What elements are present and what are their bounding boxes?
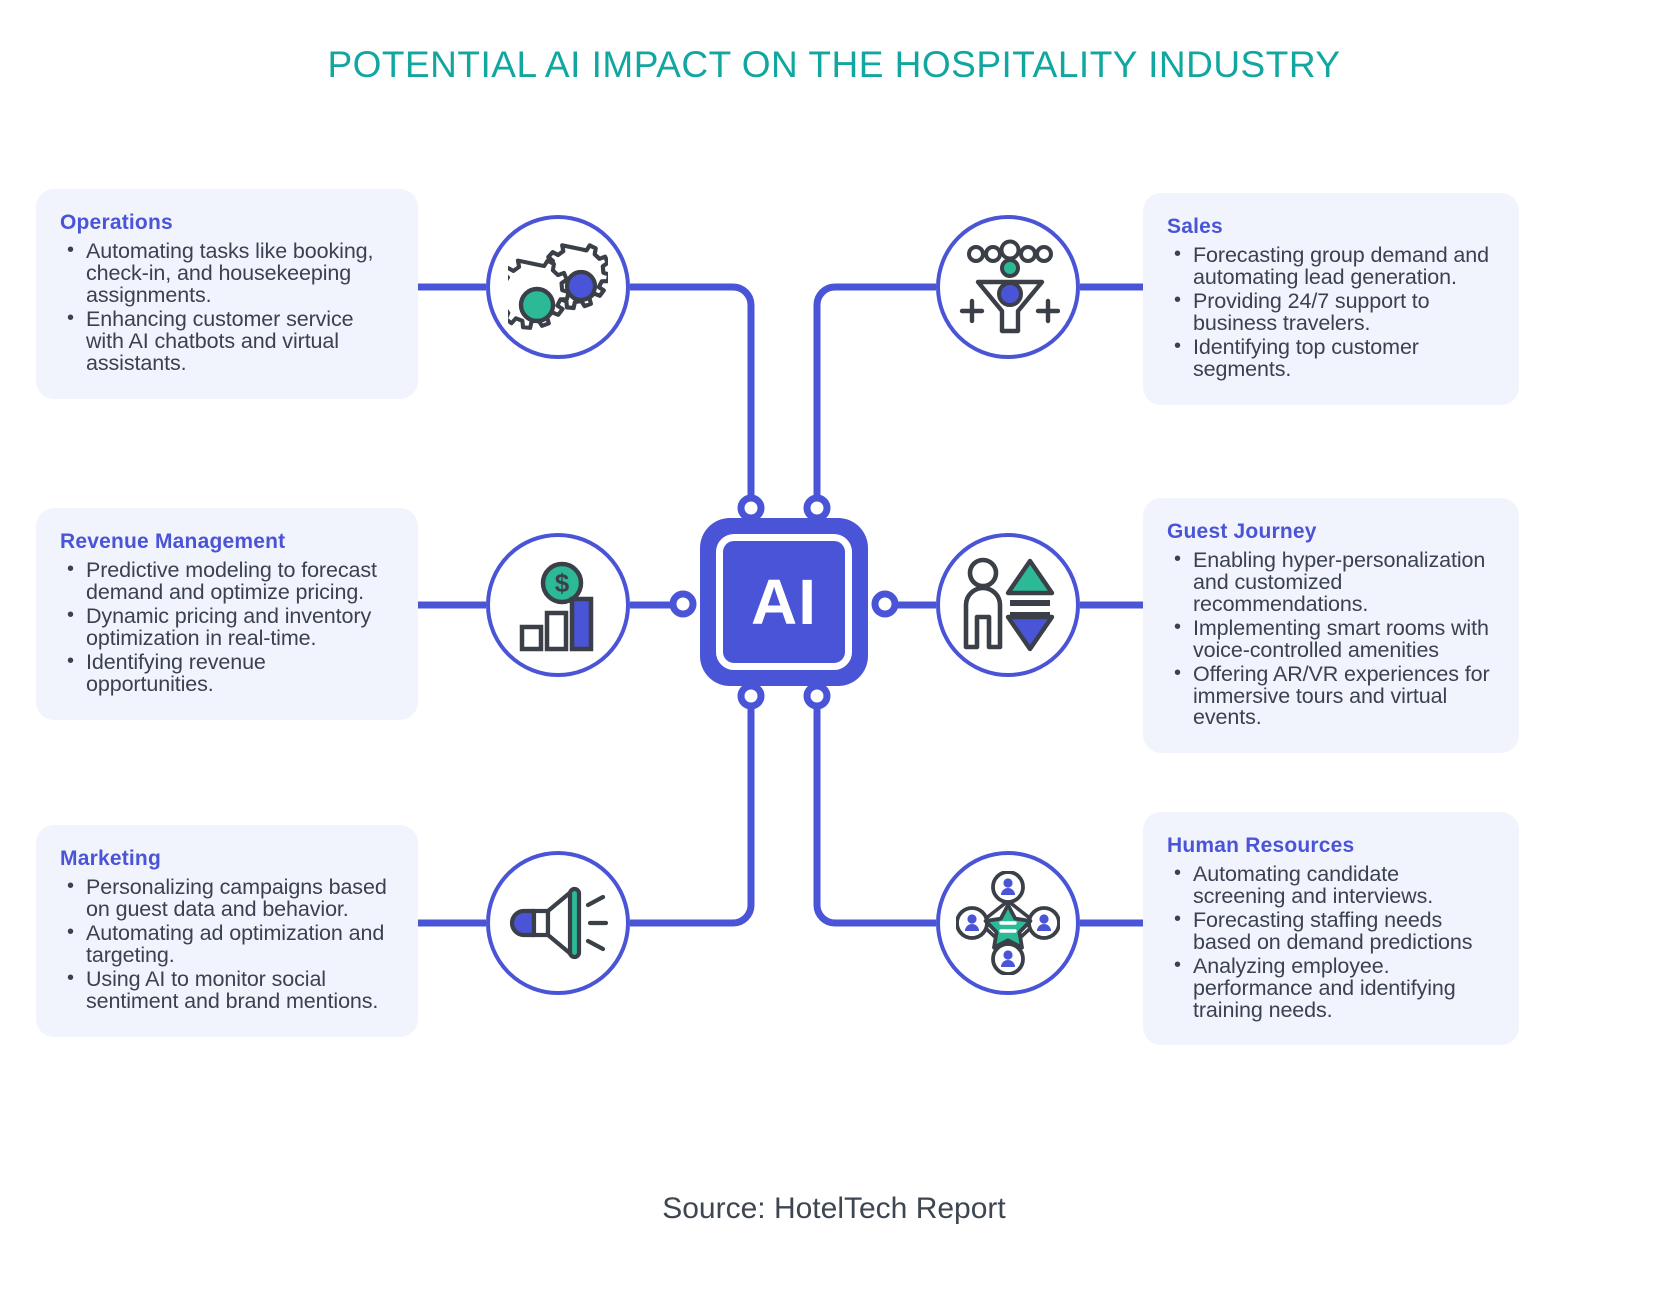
bar-chart-dollar-icon: $ bbox=[510, 557, 606, 653]
card-human-resources[interactable]: Human Resources Automating candidate scr… bbox=[1143, 812, 1519, 1045]
people-network-star-icon bbox=[956, 871, 1060, 975]
card-operations[interactable]: Operations Automating tasks like booking… bbox=[36, 189, 418, 399]
list-item: Personalizing campaigns based on guest d… bbox=[86, 877, 396, 921]
list-item: Automating candidate screening and inter… bbox=[1193, 864, 1497, 908]
guest-person-arrows-icon bbox=[956, 555, 1060, 655]
sales-funnel-icon bbox=[956, 237, 1060, 337]
icon-node-revenue-management[interactable]: $ bbox=[486, 533, 630, 677]
card-marketing[interactable]: Marketing Personalizing campaigns based … bbox=[36, 825, 418, 1037]
list-item: Predictive modeling to forecast demand a… bbox=[86, 560, 396, 604]
list-item: Using AI to monitor social sentiment and… bbox=[86, 969, 396, 1013]
list-item: Analyzing employee. performance and iden… bbox=[1193, 956, 1497, 1022]
icon-node-operations[interactable] bbox=[486, 215, 630, 359]
list-item: Dynamic pricing and inventory optimizati… bbox=[86, 606, 396, 650]
ai-chip-node: AI bbox=[700, 518, 868, 686]
card-title-marketing: Marketing bbox=[60, 847, 396, 871]
infographic-canvas: POTENTIAL AI IMPACT ON THE HOSPITALITY I… bbox=[0, 0, 1668, 1295]
icon-node-guest-journey[interactable] bbox=[936, 533, 1080, 677]
icon-node-sales[interactable] bbox=[936, 215, 1080, 359]
list-item: Identifying revenue opportunities. bbox=[86, 652, 396, 696]
list-item: Automating tasks like booking, check-in,… bbox=[86, 241, 396, 307]
list-item: Automating ad optimization and targeting… bbox=[86, 923, 396, 967]
list-item: Enhancing customer service with AI chatb… bbox=[86, 309, 396, 375]
svg-text:$: $ bbox=[555, 568, 570, 598]
icon-node-marketing[interactable] bbox=[486, 851, 630, 995]
megaphone-icon bbox=[506, 881, 610, 965]
card-title-operations: Operations bbox=[60, 211, 396, 235]
list-item: Enabling hyper-personalization and custo… bbox=[1193, 550, 1497, 616]
card-list-marketing: Personalizing campaigns based on guest d… bbox=[60, 877, 396, 1013]
list-item: Forecasting group demand and automating … bbox=[1193, 245, 1497, 289]
card-sales[interactable]: Sales Forecasting group demand and autom… bbox=[1143, 193, 1519, 405]
card-title-guest-journey: Guest Journey bbox=[1167, 520, 1497, 544]
card-title-human-resources: Human Resources bbox=[1167, 834, 1497, 858]
list-item: Implementing smart rooms with voice-cont… bbox=[1193, 618, 1497, 662]
source-caption: Source: HotelTech Report bbox=[0, 1192, 1668, 1226]
card-revenue-management[interactable]: Revenue Management Predictive modeling t… bbox=[36, 508, 418, 720]
list-item: Providing 24/7 support to business trave… bbox=[1193, 291, 1497, 335]
list-item: Offering AR/VR experiences for immersive… bbox=[1193, 664, 1497, 730]
list-item: Identifying top customer segments. bbox=[1193, 337, 1497, 381]
card-title-revenue-management: Revenue Management bbox=[60, 530, 396, 554]
ai-chip-label: AI bbox=[751, 570, 817, 634]
gears-icon bbox=[508, 239, 608, 335]
card-list-guest-journey: Enabling hyper-personalization and custo… bbox=[1167, 550, 1497, 729]
list-item: Forecasting staffing needs based on dema… bbox=[1193, 910, 1497, 954]
card-list-human-resources: Automating candidate screening and inter… bbox=[1167, 864, 1497, 1021]
card-list-operations: Automating tasks like booking, check-in,… bbox=[60, 241, 396, 375]
ai-chip-inner-border: AI bbox=[716, 534, 852, 670]
card-list-sales: Forecasting group demand and automating … bbox=[1167, 245, 1497, 381]
page-title: POTENTIAL AI IMPACT ON THE HOSPITALITY I… bbox=[0, 44, 1668, 86]
card-list-revenue-management: Predictive modeling to forecast demand a… bbox=[60, 560, 396, 696]
card-title-sales: Sales bbox=[1167, 215, 1497, 239]
card-guest-journey[interactable]: Guest Journey Enabling hyper-personaliza… bbox=[1143, 498, 1519, 753]
icon-node-human-resources[interactable] bbox=[936, 851, 1080, 995]
